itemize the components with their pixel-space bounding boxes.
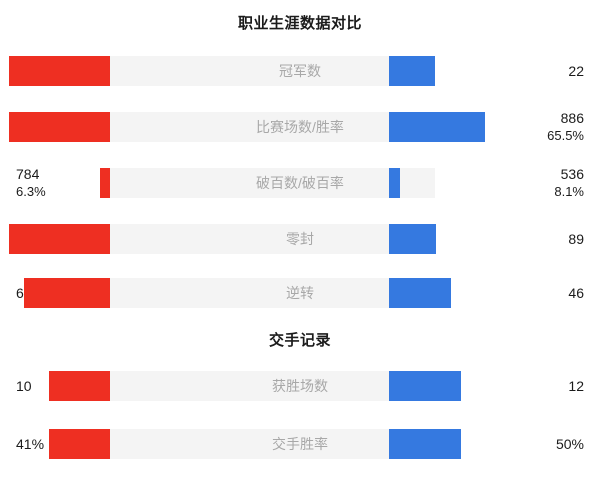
home-bar — [100, 168, 110, 198]
right-secondary-value: 65.5% — [547, 127, 584, 144]
right-primary-value: 89 — [568, 231, 584, 248]
stat-label: 交手胜率 — [211, 429, 389, 459]
stat-label: 破百数/破百率 — [211, 168, 389, 198]
right-primary-value: 22 — [568, 63, 584, 80]
stat-row-right-value: 12 — [498, 366, 584, 406]
home-bar — [9, 56, 110, 86]
home-bar — [9, 224, 110, 254]
stat-label: 比赛场数/胜率 — [211, 112, 389, 142]
stat-row-right-value: 22 — [498, 51, 584, 91]
stat-label: 获胜场数 — [211, 371, 389, 401]
away-bar — [389, 168, 400, 198]
home-bar — [49, 371, 110, 401]
stat-row-left-value: 784 6.3% — [16, 163, 102, 203]
stat-bar-track: 零封 — [110, 224, 435, 254]
stat-label: 逆转 — [211, 278, 389, 308]
away-bar — [389, 224, 436, 254]
right-primary-value: 536 — [561, 166, 584, 183]
right-primary-value: 50% — [556, 436, 584, 453]
left-primary-value: 41% — [16, 436, 44, 453]
home-bar — [49, 429, 110, 459]
left-primary-value: 10 — [16, 378, 32, 395]
stats-comparison-board: 职业生涯数据对比 49 冠军数 22 1599 69.2% 比赛场数/胜率 88… — [0, 0, 600, 480]
right-secondary-value: 8.1% — [554, 183, 584, 200]
stat-bar-track: 破百数/破百率 — [110, 168, 435, 198]
stat-row-right-value: 886 65.5% — [498, 107, 584, 147]
stat-label: 冠军数 — [211, 56, 389, 86]
home-bar — [9, 112, 110, 142]
stat-bar-track: 获胜场数 — [110, 371, 435, 401]
right-primary-value: 886 — [561, 110, 584, 127]
stat-row-career-0: 49 冠军数 22 — [0, 51, 600, 91]
stat-row-h2h-0: 10 获胜场数 12 — [0, 366, 600, 406]
left-primary-value: 784 — [16, 166, 39, 183]
away-bar — [389, 371, 461, 401]
stat-row-right-value: 50% — [498, 424, 584, 464]
stat-bar-track: 逆转 — [110, 278, 435, 308]
stat-bar-track: 交手胜率 — [110, 429, 435, 459]
stat-row-career-2: 784 6.3% 破百数/破百率 536 8.1% — [0, 163, 600, 203]
away-bar — [389, 429, 461, 459]
away-bar — [389, 278, 451, 308]
stat-row-career-4: 65 逆转 46 — [0, 273, 600, 313]
stat-row-career-3: 194 零封 89 — [0, 219, 600, 259]
stat-row-right-value: 46 — [498, 273, 584, 313]
left-secondary-value: 6.3% — [16, 183, 46, 200]
h2h-section-title: 交手记录 — [0, 329, 600, 350]
stat-label: 零封 — [211, 224, 389, 254]
away-bar — [389, 112, 485, 142]
stat-bar-track: 冠军数 — [110, 56, 435, 86]
stat-row-h2h-1: 41% 交手胜率 50% — [0, 424, 600, 464]
career-section-title: 职业生涯数据对比 — [0, 12, 600, 33]
stat-row-right-value: 89 — [498, 219, 584, 259]
right-primary-value: 12 — [568, 378, 584, 395]
home-bar — [24, 278, 110, 308]
stat-row-right-value: 536 8.1% — [498, 163, 584, 203]
stat-bar-track: 比赛场数/胜率 — [110, 112, 485, 142]
away-bar — [389, 56, 435, 86]
stat-row-career-1: 1599 69.2% 比赛场数/胜率 886 65.5% — [0, 107, 600, 147]
right-primary-value: 46 — [568, 285, 584, 302]
